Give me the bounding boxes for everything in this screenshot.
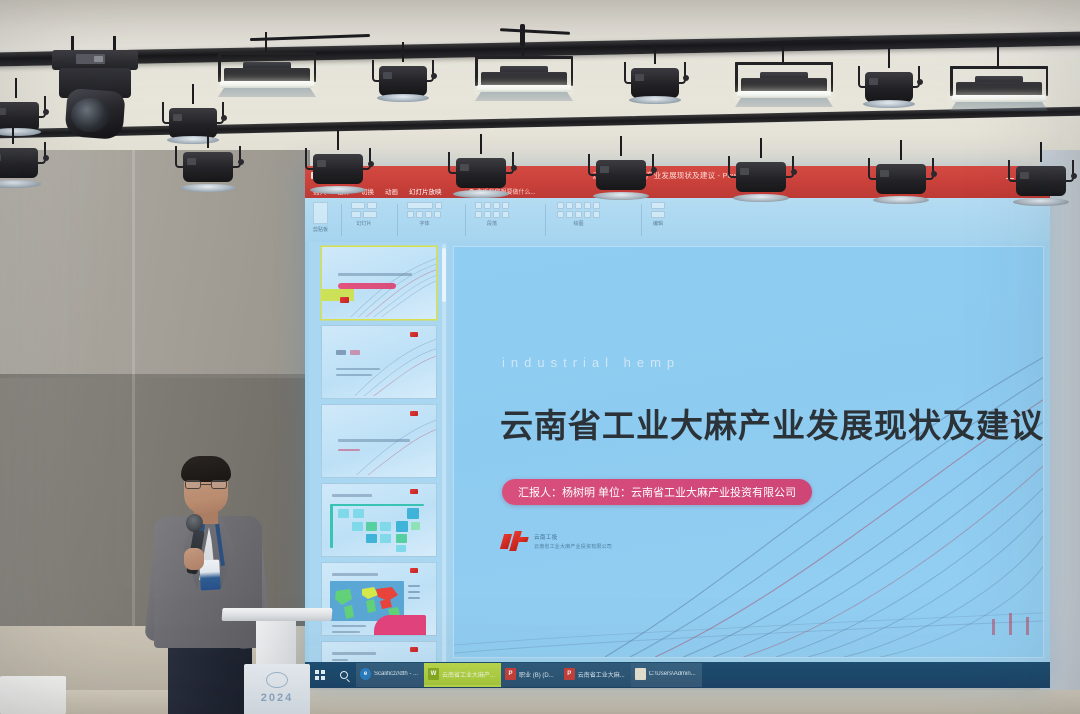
ribbon-group-label-editing: 编辑 xyxy=(651,220,665,227)
light-housing xyxy=(0,148,38,178)
thumb-flow-top xyxy=(330,504,424,506)
light-body xyxy=(224,68,310,82)
light-yoke-arm xyxy=(831,62,834,92)
light-lens xyxy=(863,100,915,108)
light-tilt-knob xyxy=(238,159,244,165)
thumb-flow-node xyxy=(411,522,420,530)
section-icon[interactable] xyxy=(363,211,377,218)
light-lens xyxy=(629,96,681,104)
light-tube xyxy=(737,91,831,98)
light-tilt-knob xyxy=(683,75,689,81)
taskbar-search-button[interactable] xyxy=(332,664,356,686)
folder-icon xyxy=(635,668,646,680)
light-barn-door xyxy=(735,98,833,107)
light-lens xyxy=(0,180,41,188)
light-yoke xyxy=(475,56,573,59)
light-body xyxy=(741,78,827,92)
light-tilt-knob xyxy=(43,155,49,161)
slide-bar-decor xyxy=(992,613,1029,635)
taskbar-item-edge[interactable]: e Scalificz//dth - ... xyxy=(356,663,424,687)
powerpoint-workspace: 1 2 xyxy=(305,242,1050,664)
thumb-title-line xyxy=(338,439,410,442)
light-tilt-knob xyxy=(917,79,923,85)
spot-light-a3 xyxy=(372,60,434,118)
thumb-flow-node xyxy=(353,509,364,518)
light-yoke-arm xyxy=(571,56,574,86)
taskbar-item-powerpoint-2[interactable]: P 云南省工业大麻... xyxy=(560,663,631,687)
light-tilt-knob xyxy=(43,109,49,115)
shape-effects-icon[interactable] xyxy=(575,211,582,218)
edge-icon: e xyxy=(360,668,371,680)
slide-eyebrow: industrial hemp xyxy=(502,355,680,370)
light-hanger xyxy=(620,136,622,156)
ribbon-commands[interactable]: 剪贴板 幻灯片 字体 段落 xyxy=(305,198,1050,242)
spot-light-b3 xyxy=(305,148,371,210)
powerpoint-icon: P xyxy=(564,668,575,680)
slide-thumbnail-pane[interactable]: 1 2 xyxy=(309,242,447,664)
light-drop-cable xyxy=(782,42,784,64)
light-housing xyxy=(169,108,216,138)
ribbon-group-label-slides: 幻灯片 xyxy=(351,220,377,227)
ribbon-group-label-font: 字体 xyxy=(407,220,442,227)
light-side-panel xyxy=(740,168,749,175)
light-hanger xyxy=(654,44,656,64)
slide-thumbnail-4[interactable]: 4 xyxy=(321,483,437,557)
font-color-icon[interactable] xyxy=(434,211,441,218)
light-side-panel xyxy=(869,78,878,85)
thumb-subtitle-line xyxy=(332,659,348,661)
light-tilt-knob xyxy=(931,171,937,177)
light-hanger xyxy=(1040,142,1042,162)
light-tilt-knob xyxy=(791,169,797,175)
thumb-flow-node xyxy=(352,522,363,531)
light-lens xyxy=(310,186,365,194)
windows-taskbar[interactable]: e Scalificz//dth - ... W 云南省工业大麻产... P 职… xyxy=(305,662,1050,688)
company-logo-line2: 云南省工业大麻产业投资有限公司 xyxy=(534,543,612,550)
scrollbar-thumb[interactable] xyxy=(442,248,446,302)
thumb-number-mark xyxy=(336,350,346,355)
taskbar-item-label: Scalificz//dth - ... xyxy=(374,671,418,677)
italic-icon[interactable] xyxy=(416,211,423,218)
light-drop-cable xyxy=(265,32,267,54)
light-tilt-knob xyxy=(511,165,517,171)
light-tube xyxy=(220,81,314,88)
company-logo-text: 云南工投 云南省工业大麻产业投资有限公司 xyxy=(534,533,612,550)
thumb-legend-line xyxy=(408,585,420,587)
light-lens xyxy=(1013,198,1068,206)
paper-sheet xyxy=(0,676,66,714)
thumb-flow-node xyxy=(380,534,391,543)
thumb-flow-node xyxy=(338,509,349,518)
presenter-hand xyxy=(184,548,204,570)
light-yoke xyxy=(218,52,316,55)
thumb-highlight xyxy=(321,289,354,301)
font-name-box[interactable] xyxy=(407,202,433,209)
light-tilt-knob xyxy=(221,115,227,121)
light-side-panel xyxy=(880,170,889,177)
ribbon-group-label-paragraph: 段落 xyxy=(475,220,509,227)
thumb-text-line xyxy=(332,631,360,633)
thumb-title-line xyxy=(332,573,378,576)
shape-outline-icon[interactable] xyxy=(566,211,573,218)
thumb-flow-node xyxy=(396,521,408,532)
slide-title: 云南省工业大麻产业发展现状及建议 xyxy=(500,399,1031,447)
slide-canvas[interactable]: industrial hemp 云南省工业大麻产业发展现状及建议 汇报人：杨树明… xyxy=(453,246,1044,658)
ribbon-group-label-clipboard: 剪贴板 xyxy=(313,226,328,233)
taskbar-item-wps[interactable]: W 云南省工业大麻产... xyxy=(424,663,501,687)
light-side-panel xyxy=(635,74,644,81)
ribbon-group-label-drawing: 绘图 xyxy=(557,220,600,227)
thumb-logo xyxy=(410,411,418,416)
light-side-panel xyxy=(1020,172,1029,179)
shape-arrow-icon[interactable] xyxy=(575,202,582,209)
thumb-text-line xyxy=(336,368,380,370)
light-lens xyxy=(167,136,219,144)
tab-animations[interactable]: 动画 xyxy=(385,186,398,196)
light-housing xyxy=(456,158,506,188)
company-logo-mark xyxy=(502,531,528,551)
light-display-panel xyxy=(76,54,105,64)
company-logo-line1: 云南工投 xyxy=(534,533,612,541)
light-housing xyxy=(596,160,646,190)
light-lens xyxy=(453,190,508,198)
spot-light-b1 xyxy=(0,142,46,204)
slide-presenter-pill: 汇报人：杨树明 单位：云南省工业大麻产业投资有限公司 xyxy=(502,479,812,505)
podium-column xyxy=(256,620,296,668)
thumb-legend-line xyxy=(408,597,420,599)
light-drop-cable xyxy=(997,46,999,68)
light-lens xyxy=(71,98,111,132)
ribbon-group-font[interactable]: 字体 xyxy=(407,202,442,238)
presenter-glasses xyxy=(185,480,227,489)
thumb-flow-node xyxy=(380,522,391,531)
light-side-panel xyxy=(460,164,469,171)
light-housing xyxy=(183,152,233,182)
thumb-flow-node xyxy=(396,534,407,543)
thumb-callout-shape xyxy=(374,615,426,636)
thumb-logo xyxy=(340,297,349,303)
wps-icon: W xyxy=(428,668,439,680)
podium: 2024 xyxy=(222,608,332,714)
podium-emblem xyxy=(266,672,288,688)
shape-oval-icon[interactable] xyxy=(566,202,573,209)
spot-light-a4 xyxy=(624,62,686,120)
light-body xyxy=(956,82,1042,96)
taskbar-item-label: 云南省工业大麻产... xyxy=(442,670,495,679)
window-title: 云南省工业大麻产业发展现状及建议 - PowerPoint xyxy=(305,170,1050,181)
thumb-accent-line xyxy=(338,449,360,451)
light-hanger xyxy=(480,134,482,154)
light-hanger xyxy=(402,42,404,62)
thumb-flow-node xyxy=(396,545,406,552)
taskbar-item-folder[interactable]: C:\Users\Admin... xyxy=(631,663,702,687)
slide-thumbnail-2[interactable]: 2 xyxy=(321,325,437,399)
thumb-flow-node xyxy=(366,534,377,543)
thumb-logo xyxy=(410,568,418,573)
light-housing xyxy=(1016,166,1066,196)
light-tilt-knob xyxy=(651,167,657,173)
light-hanger xyxy=(15,78,17,98)
podium-top-surface xyxy=(222,608,333,621)
light-side-panel xyxy=(317,160,326,167)
thumb-legend-line xyxy=(408,591,420,593)
light-lens xyxy=(377,94,429,102)
thumb-title-line xyxy=(332,494,372,497)
light-barn-door xyxy=(950,102,1048,111)
light-yoke-arm xyxy=(475,56,478,86)
company-logo: 云南工投 云南省工业大麻产业投资有限公司 xyxy=(502,531,612,551)
light-yoke-arm xyxy=(314,52,317,82)
light-barn-door xyxy=(218,88,316,97)
light-hanger xyxy=(207,128,209,148)
light-tube xyxy=(952,95,1046,102)
thumb-title-line xyxy=(332,652,376,655)
light-yoke xyxy=(735,62,833,65)
light-housing xyxy=(865,72,912,102)
light-tilt-knob xyxy=(1071,173,1077,179)
light-hanger xyxy=(12,124,14,144)
thumb-title-line xyxy=(338,273,412,276)
thumb-flow-spine xyxy=(330,504,333,548)
tab-slideshow[interactable]: 幻灯片放映 xyxy=(409,186,442,196)
podium-year-label: 2024 xyxy=(222,692,332,704)
presenter-hair xyxy=(181,456,231,482)
light-lens xyxy=(180,184,235,192)
light-lens xyxy=(873,196,928,204)
light-side-panel xyxy=(0,154,1,161)
spot-light-b6 xyxy=(728,156,794,218)
light-housing xyxy=(876,164,926,194)
light-hanger xyxy=(192,84,194,104)
spot-light-b4 xyxy=(448,152,514,214)
spot-light-a5 xyxy=(858,66,920,124)
thumb-number-mark-2 xyxy=(350,350,360,355)
led-panel-light-4 xyxy=(950,66,1048,112)
projection-screen: 云南省工业大麻产业发展现状及建议 - PowerPoint × 插入 设计 切换… xyxy=(305,166,1050,688)
spot-light-b2 xyxy=(175,146,241,208)
light-yoke-arm xyxy=(735,62,738,92)
slide-thumbnail-5[interactable]: 5 xyxy=(321,562,437,636)
light-tilt-knob xyxy=(368,161,374,167)
slide-thumbnail-6[interactable]: 6 xyxy=(321,641,437,664)
light-housing xyxy=(379,66,426,96)
light-side-panel xyxy=(600,166,609,173)
reset-icon[interactable] xyxy=(351,211,361,218)
light-side-panel xyxy=(187,158,196,165)
thumb-text-line xyxy=(332,625,366,627)
light-body xyxy=(481,72,567,86)
thumb-wave-decor xyxy=(322,326,436,396)
led-panel-light-1 xyxy=(218,52,316,98)
light-yoke xyxy=(950,66,1048,69)
light-lens xyxy=(593,192,648,200)
led-panel-light-2 xyxy=(475,56,573,102)
search-icon xyxy=(340,671,348,679)
light-yoke-arm xyxy=(950,66,953,96)
powerpoint-icon: P xyxy=(505,668,516,680)
shape-rect-icon[interactable] xyxy=(557,202,564,209)
light-yoke-arm xyxy=(1046,66,1049,96)
slide-wave-background xyxy=(454,247,1043,657)
underline-icon[interactable] xyxy=(425,211,432,218)
thumb-flow-node xyxy=(366,522,377,531)
taskbar-item-label: C:\Users\Admin... xyxy=(649,671,696,677)
left-wall-panel-upper xyxy=(0,150,310,380)
light-drop-cable xyxy=(522,36,524,58)
light-yoke-arm xyxy=(218,52,221,82)
light-lens xyxy=(0,128,41,136)
taskbar-item-label: 职业 (B) (D... xyxy=(519,670,554,679)
font-size-box[interactable] xyxy=(435,202,442,209)
slide-thumbnail-3[interactable]: 3 xyxy=(321,404,437,478)
moving-head-light xyxy=(52,50,138,190)
spot-light-b8 xyxy=(1008,160,1074,222)
taskbar-item-label: 云南省工业大麻... xyxy=(578,670,625,679)
light-hanger xyxy=(900,140,902,160)
thumb-logo xyxy=(410,489,418,494)
light-housing xyxy=(631,68,678,98)
powerpoint-title-bar: 云南省工业大麻产业发展现状及建议 - PowerPoint × xyxy=(305,166,1050,184)
light-side-panel xyxy=(173,114,182,121)
light-tilt-knob xyxy=(431,73,437,79)
light-lens xyxy=(733,194,788,202)
light-side-panel xyxy=(383,72,392,79)
ribbon-tab-bar[interactable]: 插入 设计 切换 动画 幻灯片放映 告诉我您想要做什么... xyxy=(305,184,1050,198)
light-hanger xyxy=(760,138,762,158)
light-tube xyxy=(477,85,571,92)
slide-thumbnail-1[interactable]: 1 xyxy=(321,246,437,320)
light-barn-door xyxy=(475,92,573,101)
light-hanger xyxy=(888,48,890,68)
bold-icon[interactable] xyxy=(407,211,414,218)
thumb-flow-node xyxy=(407,508,419,519)
thumb-logo xyxy=(410,647,418,652)
shape-fill-icon[interactable] xyxy=(557,211,564,218)
led-panel-light-3 xyxy=(735,62,833,108)
thumbnail-scrollbar[interactable] xyxy=(442,244,446,662)
spot-light-b5 xyxy=(588,154,654,216)
wall-edge-highlight xyxy=(132,150,135,628)
light-housing xyxy=(313,154,363,184)
spot-light-b7 xyxy=(868,158,934,220)
thumb-text-line xyxy=(336,374,372,376)
light-housing xyxy=(736,162,786,192)
conference-photo-scene: 云南省工业大麻产业发展现状及建议 - PowerPoint × 插入 设计 切换… xyxy=(0,0,1080,714)
taskbar-item-powerpoint-1[interactable]: P 职业 (B) (D... xyxy=(501,663,560,687)
light-side-panel xyxy=(0,108,6,115)
thumb-logo xyxy=(410,332,418,337)
light-hanger xyxy=(337,130,339,150)
